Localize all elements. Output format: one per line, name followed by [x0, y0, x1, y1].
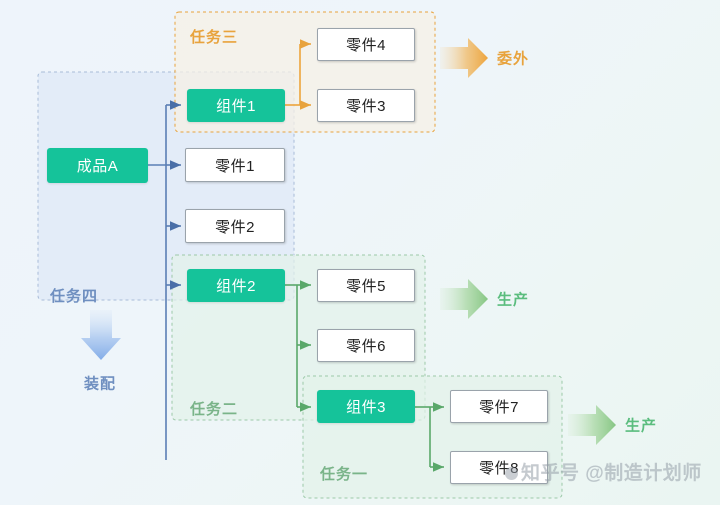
node-label: 零件1 [215, 155, 255, 176]
label-text: 任务二 [190, 401, 238, 418]
node-label: 组件1 [216, 95, 256, 116]
node-comp1[interactable]: 组件1 [187, 89, 285, 122]
node-part6[interactable]: 零件6 [317, 329, 415, 362]
watermark-text: 知乎号 @制造计划师 [521, 463, 702, 484]
node-part7[interactable]: 零件7 [450, 390, 548, 423]
region-label-task-three: 任务三 [190, 26, 238, 47]
flow-label-outsource: 委外 [497, 48, 529, 69]
node-comp3[interactable]: 组件3 [317, 390, 415, 423]
node-part5[interactable]: 零件5 [317, 269, 415, 302]
node-label: 成品A [77, 155, 119, 176]
node-label: 零件2 [215, 216, 255, 237]
node-label: 零件5 [346, 275, 386, 296]
watermark-logo-icon [505, 467, 518, 480]
label-text: 委外 [497, 51, 529, 68]
flow-label-produce-2: 生产 [625, 415, 657, 436]
node-label: 组件3 [346, 396, 386, 417]
region-label-task-two: 任务二 [190, 398, 238, 419]
edges-layer [0, 0, 720, 505]
label-text: 生产 [625, 418, 657, 435]
edge-group-green-comp2 [285, 285, 311, 407]
node-comp2[interactable]: 组件2 [187, 269, 285, 302]
node-label: 零件6 [346, 335, 386, 356]
label-text: 任务四 [50, 288, 98, 305]
watermark: 知乎号 @制造计划师 [505, 458, 702, 485]
label-text: 生产 [497, 292, 529, 309]
node-part3[interactable]: 零件3 [317, 89, 415, 122]
region-label-task-four: 任务四 [50, 285, 98, 306]
node-label: 零件3 [346, 95, 386, 116]
edge-group-orange [285, 44, 311, 105]
node-label: 零件4 [346, 34, 386, 55]
edge-group-blue [148, 105, 181, 460]
node-part1[interactable]: 零件1 [185, 148, 285, 182]
node-label: 零件7 [479, 396, 519, 417]
label-text: 任务一 [320, 466, 368, 483]
node-part2[interactable]: 零件2 [185, 209, 285, 243]
flow-label-produce-1: 生产 [497, 289, 529, 310]
flow-label-assemble: 装配 [84, 373, 116, 394]
diagram-canvas: 成品A 组件1 零件1 零件2 组件2 零件4 零件3 零件5 零件6 组件3 … [0, 0, 720, 505]
edge-group-green-comp3 [415, 407, 444, 467]
label-text: 任务三 [190, 29, 238, 46]
region-label-task-one: 任务一 [320, 463, 368, 484]
node-label: 组件2 [216, 275, 256, 296]
node-finished-a[interactable]: 成品A [47, 148, 148, 183]
node-part4[interactable]: 零件4 [317, 28, 415, 61]
label-text: 装配 [84, 376, 116, 393]
